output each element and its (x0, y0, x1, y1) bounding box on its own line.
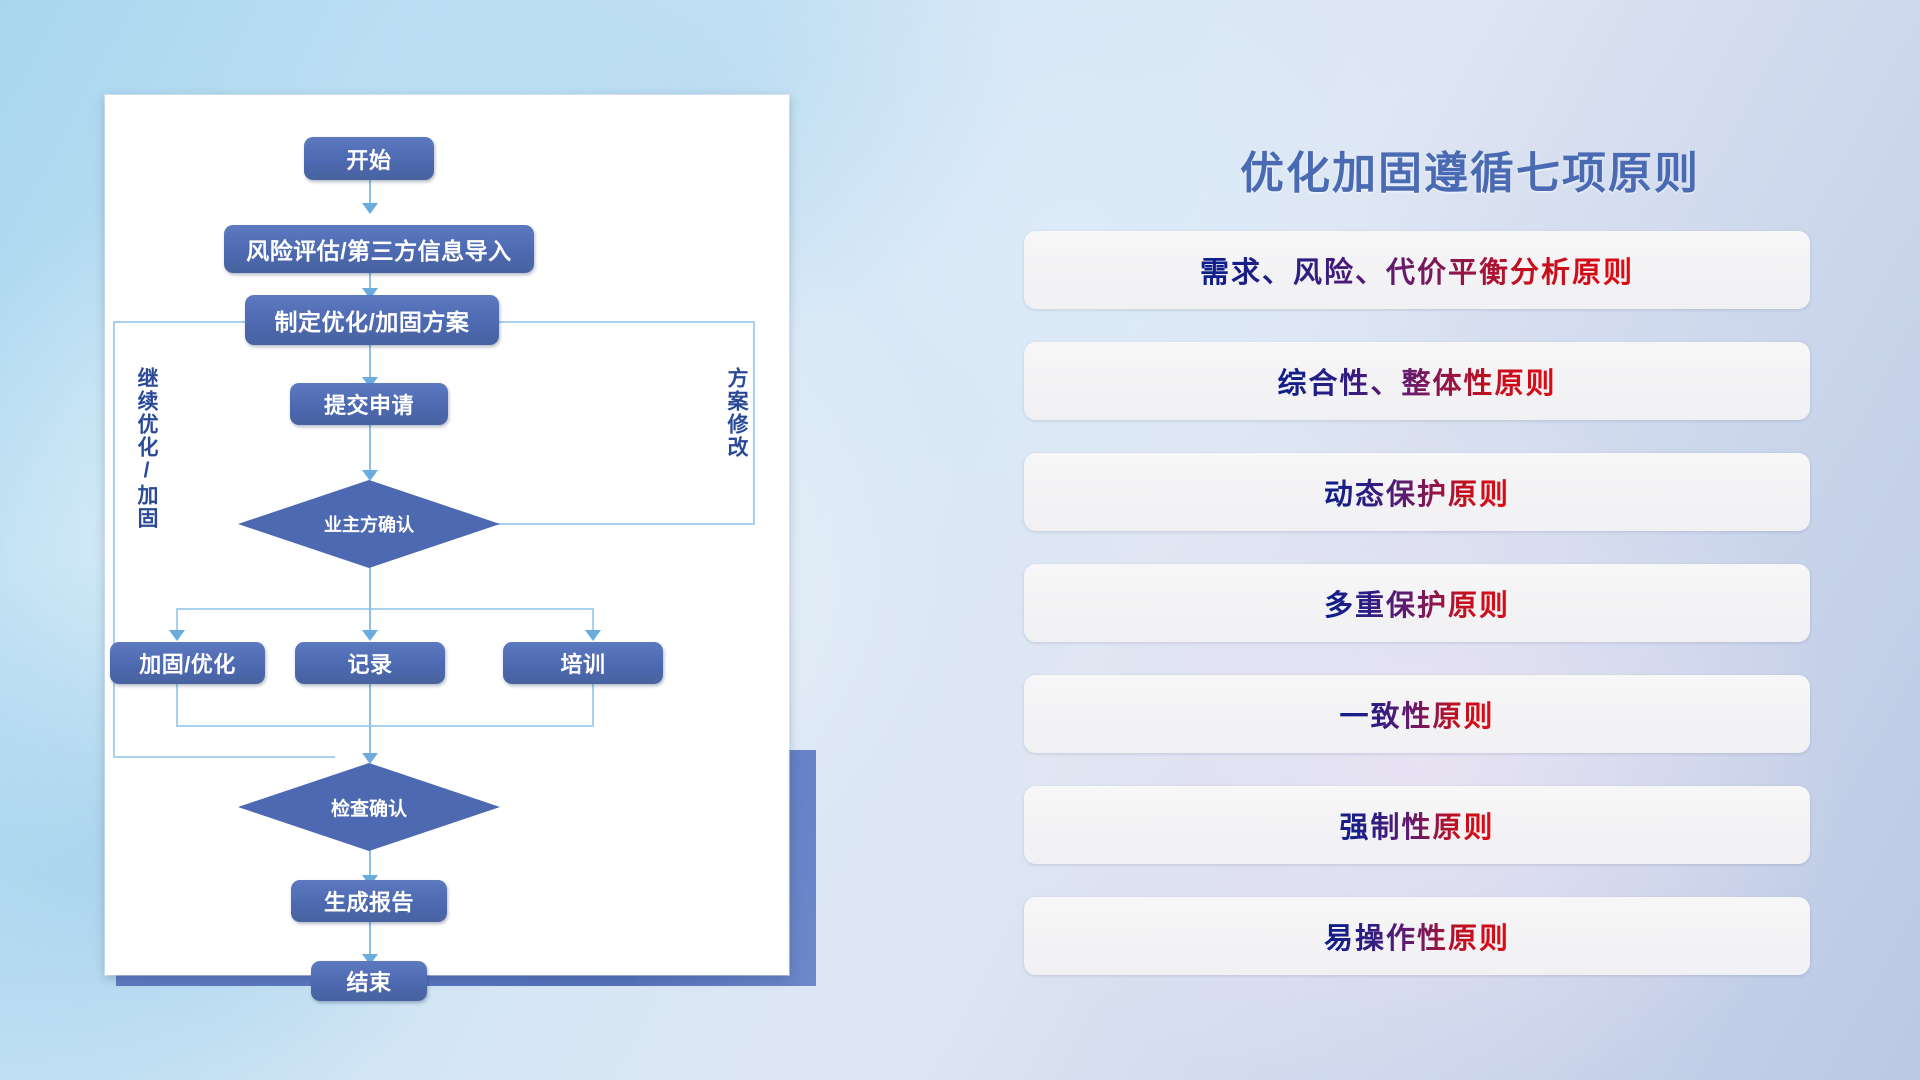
panel-title: 优化加固遵循七项原则 (1150, 137, 1790, 201)
flow-node-generate-report[interactable]: 生成报告 (291, 880, 447, 922)
principle-card-label: 一致性原则 (1339, 693, 1494, 735)
connector-branch-bus (176, 608, 593, 610)
connector-reinforce-down (176, 683, 178, 727)
connector-merge-bus (176, 725, 593, 727)
arrowhead-branch-reinforce (169, 630, 185, 641)
edge-label-continue-loop: 继续优化/加固 (135, 367, 157, 530)
flow-node-check-confirm[interactable]: 检查确认 (238, 763, 500, 851)
connector-training-down (592, 683, 594, 727)
arrowhead-branch-training (585, 630, 601, 641)
principle-card-label: 需求、风险、代价平衡分析原则 (1200, 249, 1634, 291)
principle-card[interactable]: 需求、风险、代价平衡分析原则 (1024, 231, 1810, 309)
connector-owner-right (483, 523, 755, 525)
flow-node-start[interactable]: 开始 (304, 137, 434, 180)
principle-card-label: 多重保护原则 (1324, 582, 1510, 624)
flow-node-submit-application[interactable]: 提交申请 (290, 383, 448, 425)
principle-card[interactable]: 强制性原则 (1024, 786, 1810, 864)
flow-node-start-label: 开始 (346, 143, 391, 175)
principle-card-label: 动态保护原则 (1324, 471, 1510, 513)
principle-card-label: 易操作性原则 (1324, 915, 1510, 957)
principle-card[interactable]: 动态保护原则 (1024, 453, 1810, 531)
principle-card[interactable]: 综合性、整体性原则 (1024, 342, 1810, 420)
arrowhead-start-risk (362, 203, 378, 214)
flow-node-training[interactable]: 培训 (503, 642, 663, 684)
principle-card[interactable]: 易操作性原则 (1024, 897, 1810, 975)
connector-right-vertical (753, 321, 755, 525)
flow-node-make-plan[interactable]: 制定优化/加固方案 (245, 295, 499, 345)
arrowhead-branch-record (362, 630, 378, 641)
edge-label-plan-revise: 方案修改 (725, 367, 747, 459)
connector-loop-left-bottom (113, 756, 335, 758)
flow-node-risk-assessment[interactable]: 风险评估/第三方信息导入 (224, 225, 534, 273)
flow-node-submit-application-label: 提交申请 (324, 388, 414, 420)
flow-node-record-label: 记录 (347, 647, 392, 679)
flow-node-generate-report-label: 生成报告 (324, 885, 414, 917)
flow-node-end[interactable]: 结束 (311, 961, 427, 1001)
connector-owner-down (369, 567, 371, 610)
connector-right-to-plan (483, 321, 755, 323)
arrowhead-submit-owner (362, 470, 378, 481)
connector-loop-left-vertical (113, 321, 115, 758)
principle-card[interactable]: 多重保护原则 (1024, 564, 1810, 642)
flow-node-make-plan-label: 制定优化/加固方案 (275, 303, 470, 337)
flow-node-owner-confirm-label: 业主方确认 (324, 511, 414, 537)
principle-card-label: 强制性原则 (1339, 804, 1494, 846)
principle-card[interactable]: 一致性原则 (1024, 675, 1810, 753)
flow-node-training-label: 培训 (560, 647, 605, 679)
flow-node-end-label: 结束 (346, 965, 391, 997)
flowchart-card: 开始 风险评估/第三方信息导入 制定优化/加固方案 提交申请 业主方确认 加固/… (105, 95, 789, 975)
flow-node-owner-confirm[interactable]: 业主方确认 (238, 480, 500, 568)
flow-node-reinforce-label: 加固/优化 (139, 647, 236, 679)
principle-card-label: 综合性、整体性原则 (1277, 360, 1556, 402)
arrowhead-merge-check (362, 753, 378, 764)
flow-node-record[interactable]: 记录 (295, 642, 445, 684)
connector-record-down (369, 683, 371, 761)
flow-node-risk-assessment-label: 风险评估/第三方信息导入 (246, 232, 511, 266)
flow-node-reinforce[interactable]: 加固/优化 (110, 642, 265, 684)
flow-node-check-confirm-label: 检查确认 (331, 794, 407, 821)
principles-list: 需求、风险、代价平衡分析原则 综合性、整体性原则 动态保护原则 多重保护原则 一… (1024, 231, 1810, 1008)
